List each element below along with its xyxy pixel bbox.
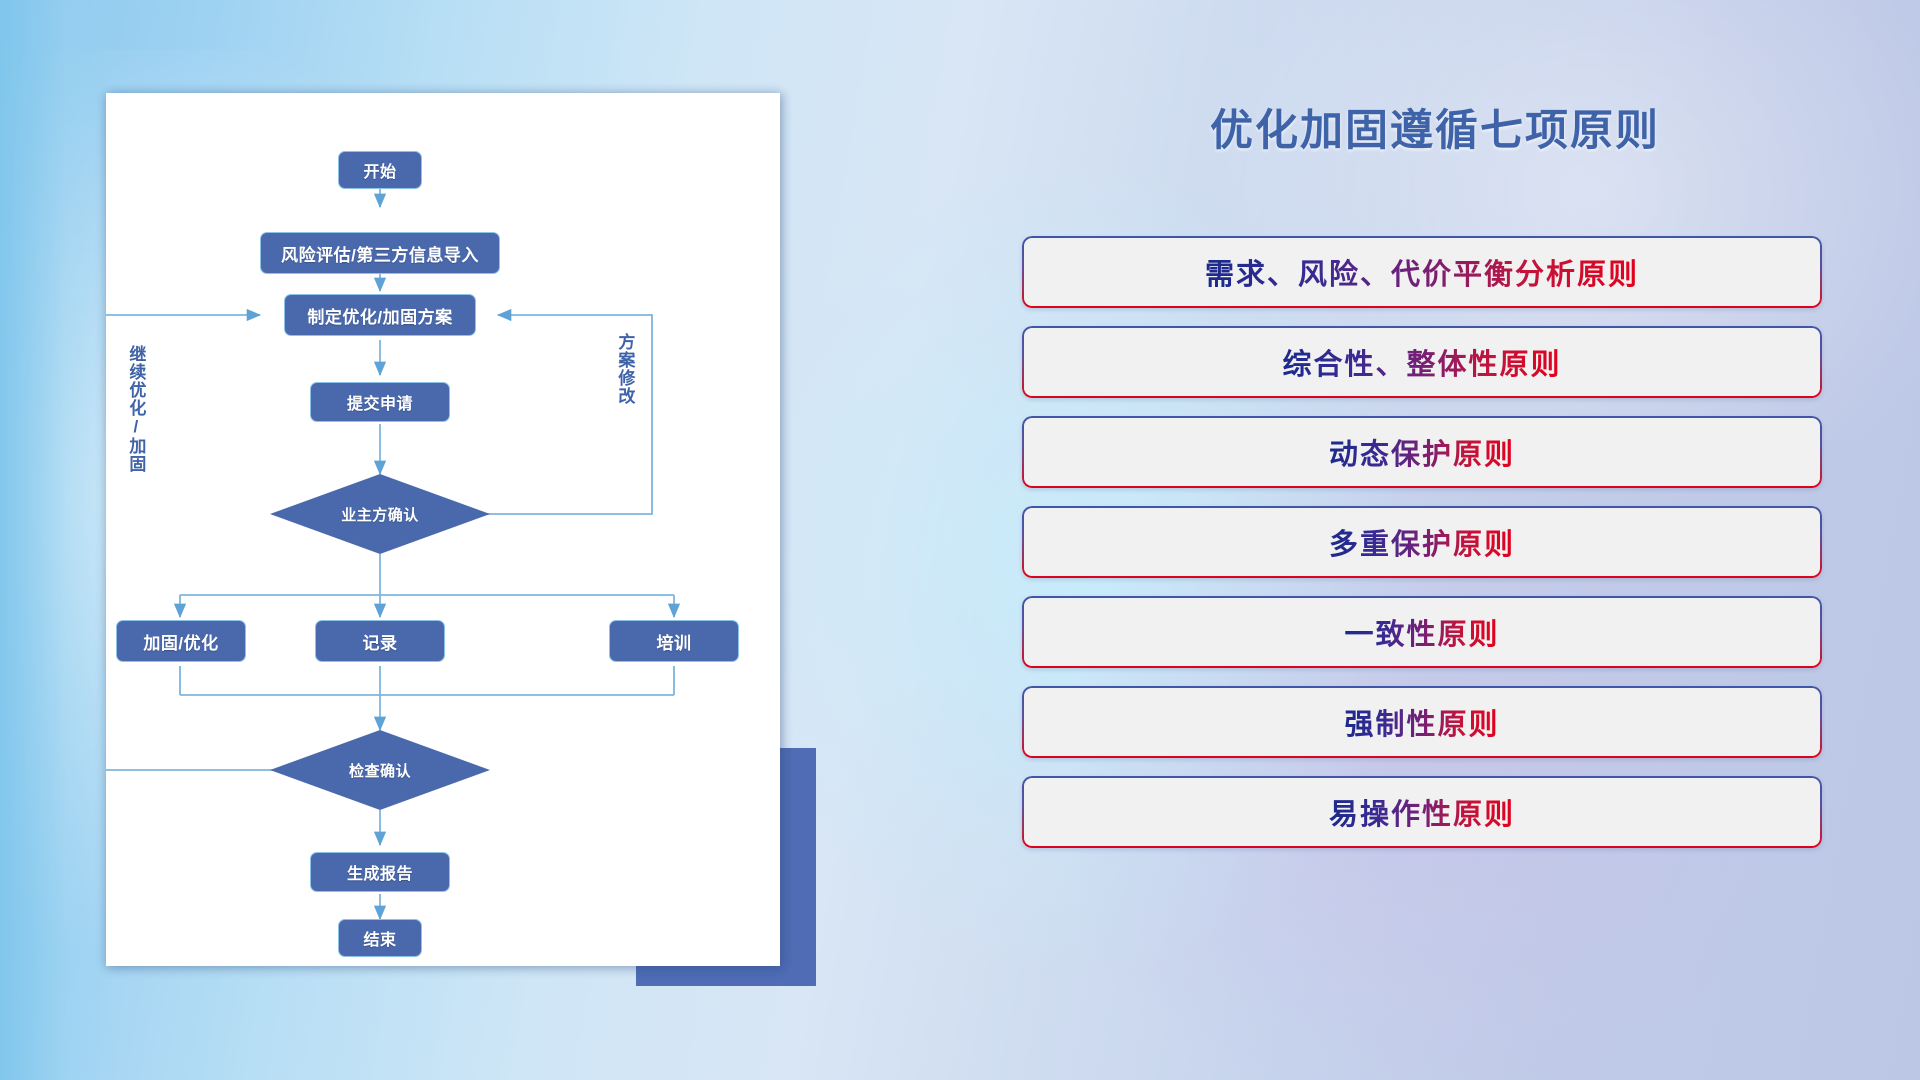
- principles-panel: 优化加固遵循七项原则 需求、风险、代价平衡分析原则 综合性、整体性原则 动态保护…: [1020, 96, 1850, 1016]
- principle-label-6: 强制性原则: [1344, 701, 1499, 743]
- principle-item-2[interactable]: 综合性、整体性原则: [1022, 326, 1822, 398]
- flow-node-risk-assessment[interactable]: 风险评估/第三方信息导入: [260, 232, 500, 274]
- flowchart-card: 开始 风险评估/第三方信息导入 制定优化/加固方案 提交申请 业主方确认 加固/…: [106, 93, 780, 966]
- principle-item-6[interactable]: 强制性原则: [1022, 686, 1822, 758]
- principle-item-1[interactable]: 需求、风险、代价平衡分析原则: [1022, 236, 1822, 308]
- background-edge-left: [0, 0, 120, 1080]
- flow-node-record[interactable]: 记录: [315, 620, 445, 662]
- principle-label-7: 易操作性原则: [1329, 791, 1515, 833]
- principle-label-5: 一致性原则: [1344, 611, 1499, 653]
- principle-label-2: 综合性、整体性原则: [1282, 341, 1561, 383]
- flow-node-reinforce-optimize[interactable]: 加固/优化: [116, 620, 246, 662]
- principle-item-5[interactable]: 一致性原则: [1022, 596, 1822, 668]
- flow-node-generate-report[interactable]: 生成报告: [310, 852, 450, 892]
- principle-label-1: 需求、风险、代价平衡分析原则: [1205, 251, 1639, 293]
- principle-label-3: 动态保护原则: [1329, 431, 1515, 473]
- panel-title: 优化加固遵循七项原则: [1020, 96, 1850, 158]
- principle-item-4[interactable]: 多重保护原则: [1022, 506, 1822, 578]
- flow-node-submit-application[interactable]: 提交申请: [310, 382, 450, 422]
- flow-node-training[interactable]: 培训: [609, 620, 739, 662]
- flow-node-plan[interactable]: 制定优化/加固方案: [284, 294, 476, 336]
- flow-node-start[interactable]: 开始: [338, 151, 422, 189]
- flow-edge-label-plan-revision: 方案修改: [616, 333, 633, 405]
- flow-edge-label-continue-optimize: 继续优化/加固: [127, 345, 144, 473]
- flow-node-end[interactable]: 结束: [338, 919, 422, 957]
- principle-item-3[interactable]: 动态保护原则: [1022, 416, 1822, 488]
- principle-label-4: 多重保护原则: [1329, 521, 1515, 563]
- principles-list: 需求、风险、代价平衡分析原则 综合性、整体性原则 动态保护原则 多重保护原则 一…: [1022, 236, 1822, 866]
- principle-item-7[interactable]: 易操作性原则: [1022, 776, 1822, 848]
